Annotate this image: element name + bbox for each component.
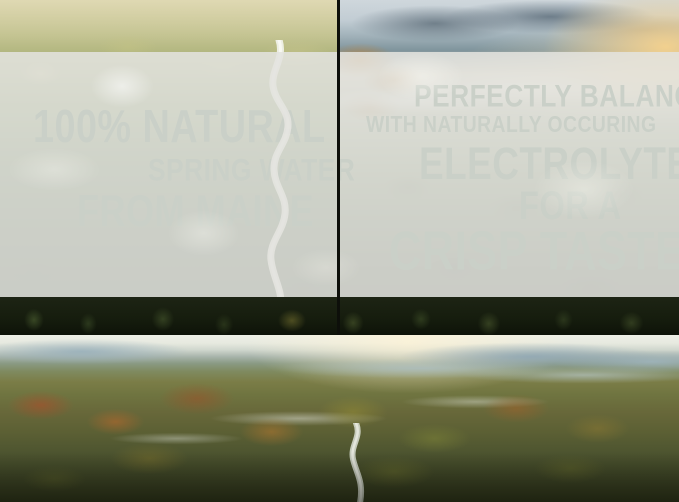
product-lifestyle-image: 100% NATURAL SPRING WATER FROM MAINE PER… xyxy=(0,0,679,502)
bottom-photo-panel xyxy=(0,335,679,502)
stream-shape xyxy=(338,423,378,502)
top-photo-row: 100% NATURAL SPRING WATER FROM MAINE PER… xyxy=(0,0,679,335)
panel-divider xyxy=(337,0,340,335)
